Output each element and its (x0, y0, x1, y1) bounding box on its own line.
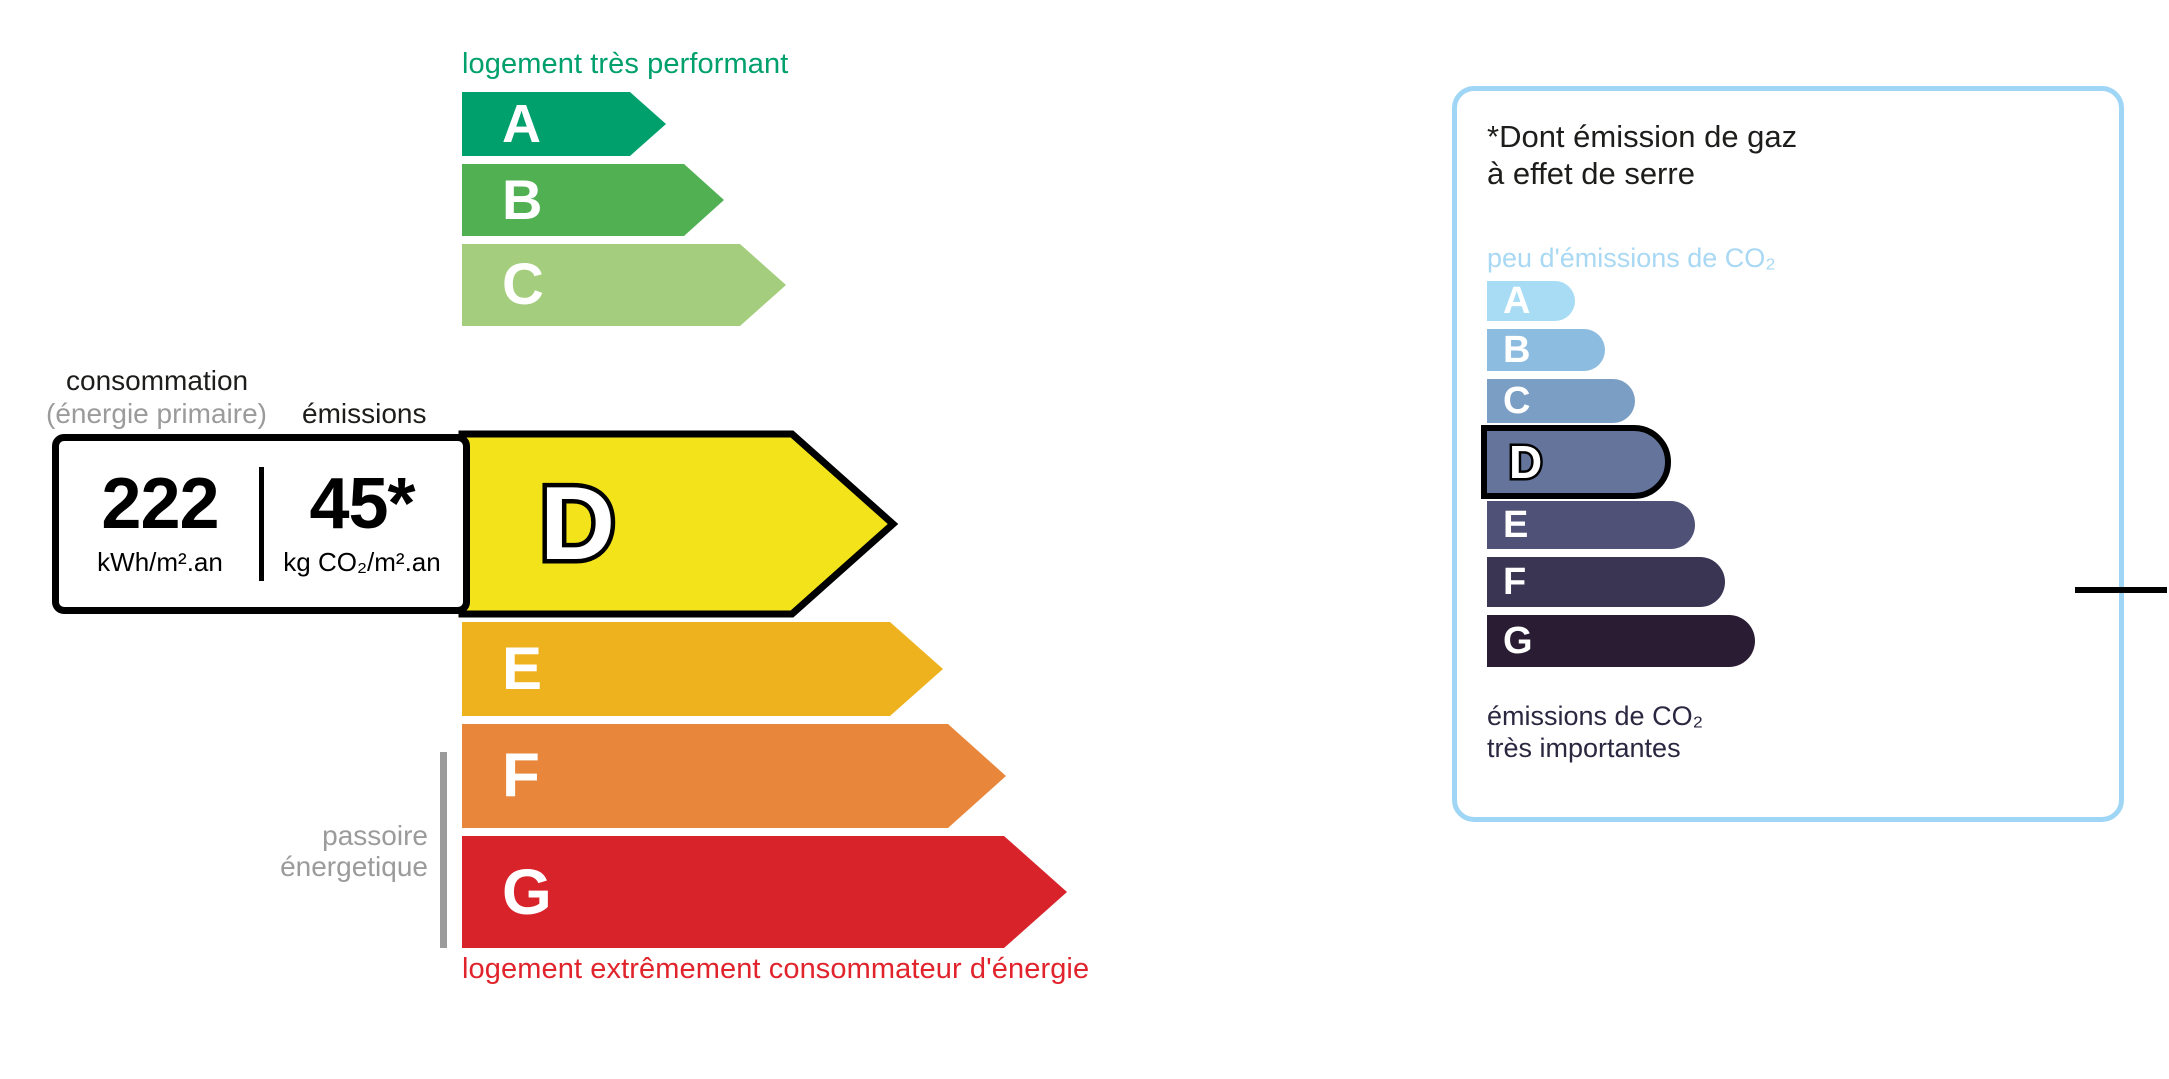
co2-bottom-line2: très importantes (1487, 733, 1703, 765)
co2-top-caption: peu d'émissions de CO₂ (1487, 243, 1776, 274)
energy-row-a: A (462, 92, 666, 156)
energy-row-c: C (462, 244, 786, 326)
co2-bar-letter-b: B (1503, 331, 1530, 369)
co2-bar-letter-f: F (1503, 563, 1526, 601)
co2-bar-f: F (1487, 557, 1725, 607)
co2-bar-g: G (1487, 615, 1755, 667)
emissions-value: 45* (309, 470, 414, 538)
co2-bar-letter-d: D (1509, 439, 1542, 485)
co2-title-line1: *Dont émission de gaz (1487, 119, 1797, 156)
co2-bar-letter-e: E (1503, 506, 1528, 544)
dpe-energy-label: logement très performant ABCDEFG consomm… (0, 0, 2169, 1079)
co2-bar-a: A (1487, 281, 1575, 321)
co2-bar-letter-g: G (1503, 622, 1533, 660)
energy-performance-scale: logement très performant ABCDEFG consomm… (0, 0, 1400, 1079)
emissions-unit: kg CO₂/m².an (283, 547, 440, 578)
passoire-marker-bar (440, 752, 447, 948)
energy-row-d: D (462, 434, 893, 614)
energy-row-f: F (462, 724, 1006, 828)
co2-bar-list: ABCDEFG (1487, 281, 2107, 675)
energy-bottom-caption: logement extrêmement consommateur d'éner… (462, 953, 1089, 986)
consumption-cell: 222 kWh/m².an (59, 441, 261, 607)
co2-bottom-caption: émissions de CO₂ très importantes (1487, 701, 1703, 765)
energy-row-letter-c: C (502, 256, 544, 314)
energy-row-g: G (462, 836, 1067, 948)
co2-bottom-line1: émissions de CO₂ (1487, 701, 1703, 733)
label-consommation: consommation (66, 365, 248, 397)
co2-callout-leader-line (2075, 587, 2167, 593)
co2-bar-letter-a: A (1503, 282, 1530, 320)
emissions-cell: 45* kg CO₂/m².an (261, 441, 463, 607)
consumption-value: 222 (101, 470, 218, 538)
energy-row-letter-f: F (502, 745, 540, 807)
consumption-value-box: 222 kWh/m².an 45* kg CO₂/m².an (52, 434, 470, 614)
co2-bar-letter-c: C (1503, 382, 1530, 420)
consumption-unit: kWh/m².an (97, 547, 223, 578)
co2-bar-e: E (1487, 501, 1695, 549)
energy-row-letter-g: G (502, 860, 552, 924)
co2-bar-c: C (1487, 379, 1635, 423)
energy-row-letter-a: A (502, 97, 541, 151)
passoire-label: passoire énergetique (238, 820, 428, 883)
co2-emissions-panel: *Dont émission de gaz à effet de serre p… (1452, 86, 2124, 822)
energy-row-letter-e: E (502, 639, 542, 699)
energy-row-letter-b: B (502, 172, 542, 228)
co2-panel-title: *Dont émission de gaz à effet de serre (1487, 119, 1797, 192)
energy-row-letter-d: D (540, 472, 615, 576)
passoire-line1: passoire (238, 820, 428, 851)
label-emissions: émissions (302, 398, 426, 430)
co2-bar-b: B (1487, 329, 1605, 371)
passoire-line2: énergetique (238, 851, 428, 882)
co2-bar-d: D (1481, 425, 1671, 499)
label-energie-primaire: (énergie primaire) (46, 398, 267, 430)
energy-row-b: B (462, 164, 724, 236)
co2-title-line2: à effet de serre (1487, 156, 1797, 193)
energy-row-e: E (462, 622, 943, 716)
